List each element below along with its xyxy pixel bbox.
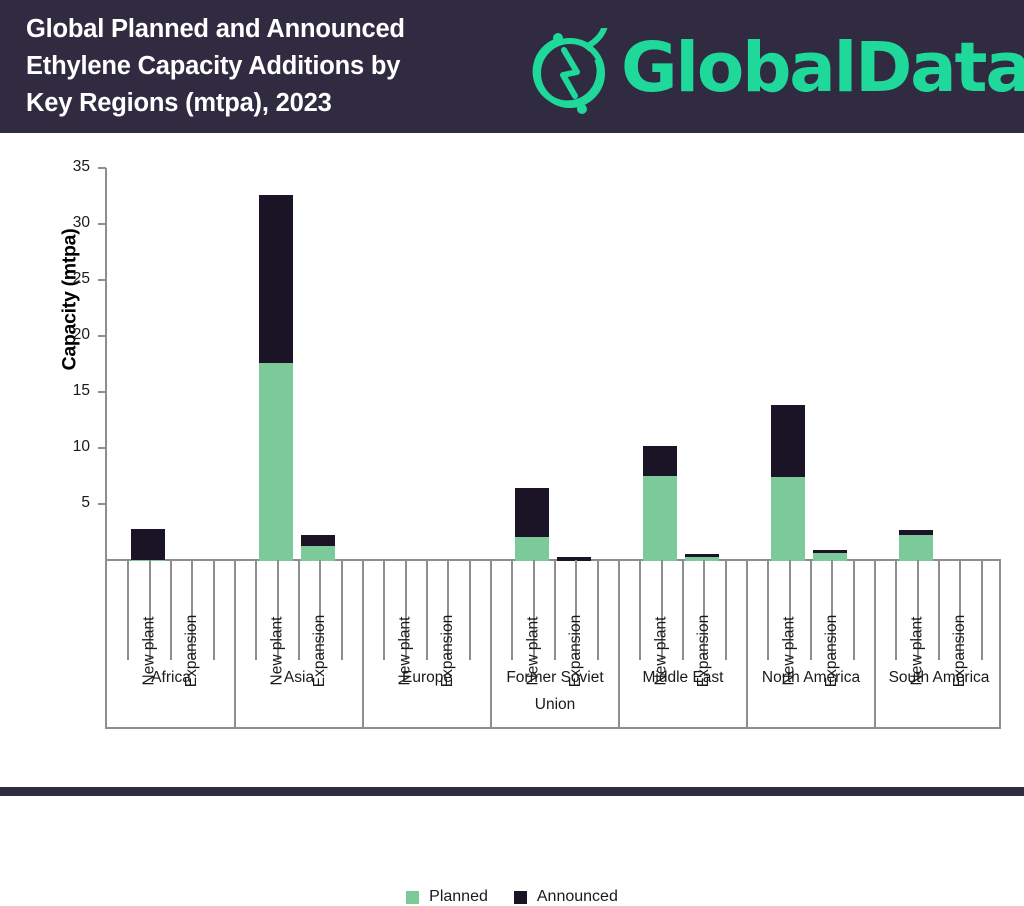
group-label-south-america: South America	[875, 664, 1003, 691]
bar-segment-announced	[643, 446, 677, 476]
bar-south-america-new-plant	[899, 530, 933, 561]
footer-strip	[0, 787, 1024, 796]
bar-segment-announced	[813, 550, 847, 552]
bar-segment-planned	[259, 363, 293, 561]
legend-label: Planned	[429, 888, 488, 906]
bar-segment-planned	[899, 535, 933, 561]
bar-segment-announced	[685, 554, 719, 556]
legend-swatch-icon	[514, 891, 527, 904]
chart-canvas: Capacity (mtpa) 5101520253035 New plantE…	[0, 133, 1024, 781]
bar-asia-new-plant	[259, 195, 293, 561]
globaldata-logo: GlobalData.	[525, 20, 1015, 116]
y-axis-tick-label: 25	[40, 270, 90, 288]
bar-segment-announced	[131, 529, 165, 560]
legend-item-announced[interactable]: Announced	[514, 888, 618, 906]
globaldata-logo-mark-icon	[525, 28, 615, 118]
bar-segment-announced	[259, 195, 293, 363]
y-axis-tick-label: 30	[40, 214, 90, 232]
header-banner: Global Planned and Announced Ethylene Ca…	[0, 0, 1024, 133]
bar-segment-announced	[301, 535, 335, 546]
category-label-expansion: Expansion	[910, 560, 1010, 660]
y-axis-tick-label: 15	[40, 382, 90, 400]
y-axis-tick-label: 20	[40, 326, 90, 344]
bars-layer	[105, 168, 1001, 561]
group-label-africa: Africa	[107, 664, 235, 691]
globaldata-logo-text: GlobalData.	[621, 28, 1024, 108]
y-axis-tick-label: 35	[40, 158, 90, 176]
bar-africa-new-plant	[131, 529, 165, 561]
group-label-europe: Europe	[363, 664, 491, 691]
group-label-asia: Asia	[235, 664, 363, 691]
bar-former-soviet-union-new-plant	[515, 488, 549, 561]
group-label-middle-east: Middle East	[619, 664, 747, 691]
legend-swatch-icon	[406, 891, 419, 904]
chart-legend: PlannedAnnounced	[0, 888, 1024, 906]
legend-label: Announced	[537, 888, 618, 906]
group-label-north-america: North America	[747, 664, 875, 691]
bar-middle-east-new-plant	[643, 446, 677, 561]
bar-segment-announced	[899, 530, 933, 536]
bar-segment-planned	[643, 476, 677, 561]
bar-segment-planned	[515, 537, 549, 561]
page-title: Global Planned and Announced Ethylene Ca…	[26, 11, 546, 122]
bar-segment-planned	[301, 546, 335, 561]
y-axis-tick-label: 10	[40, 438, 90, 456]
bar-segment-announced	[771, 405, 805, 477]
bar-segment-planned	[771, 477, 805, 561]
bar-north-america-new-plant	[771, 405, 805, 561]
category-axis: New plantExpansionAfricaNew plantExpansi…	[105, 560, 1001, 729]
bar-segment-announced	[515, 488, 549, 537]
y-axis-tick-label: 5	[40, 494, 90, 512]
group-label-former-soviet-union: Former Soviet Union	[491, 664, 619, 718]
bar-asia-expansion	[301, 535, 335, 561]
legend-item-planned[interactable]: Planned	[406, 888, 488, 906]
